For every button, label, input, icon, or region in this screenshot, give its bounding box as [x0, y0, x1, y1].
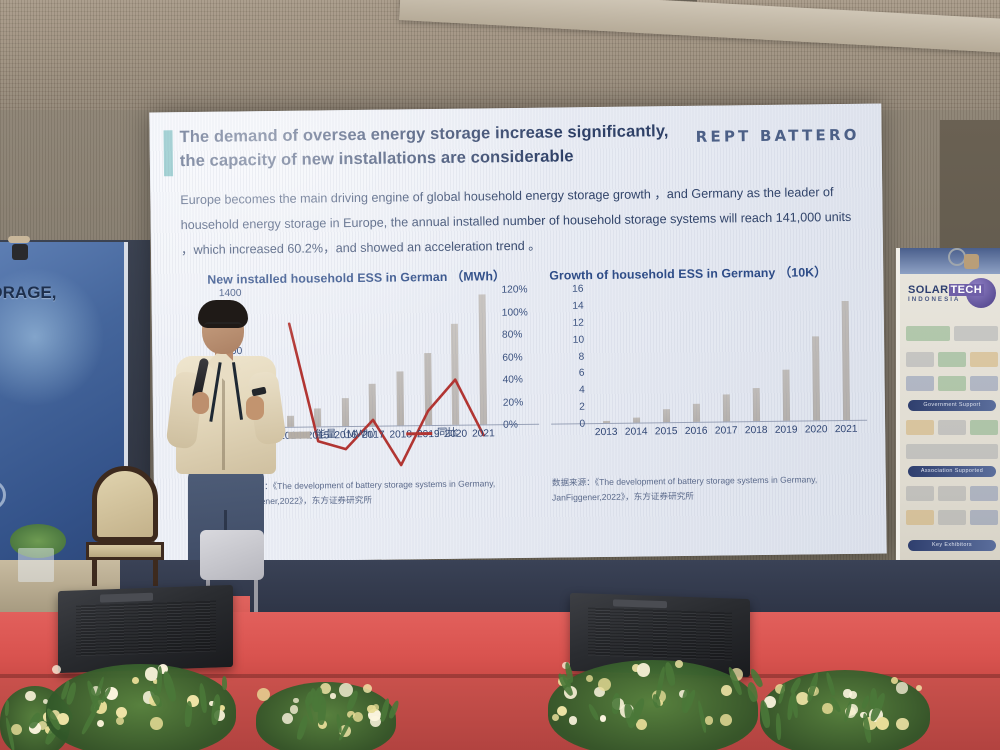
sponsor-logo — [906, 444, 998, 459]
flower-petal — [569, 716, 578, 725]
flower-leaf — [861, 695, 871, 710]
flower-petal — [116, 717, 124, 725]
spotlight-left — [8, 232, 34, 262]
y-tick-12: 12 — [550, 317, 584, 328]
flower-arrangement — [46, 664, 236, 750]
flower-leaf — [379, 698, 391, 722]
flower-petal — [675, 660, 683, 668]
chart-right-bars — [589, 286, 861, 423]
armchair-legs — [92, 560, 158, 586]
y-tick-2: 2 — [551, 402, 585, 413]
bar-2013 — [603, 421, 610, 423]
y2-tick-0%: 0% — [503, 419, 539, 430]
spotlight-arm — [8, 236, 30, 243]
bar-2019 — [782, 370, 790, 421]
speaker-handle — [100, 593, 153, 603]
flower-petal — [116, 707, 127, 718]
sponsor-logo — [906, 510, 934, 525]
sponsor-row-1 — [906, 326, 998, 341]
flower-petal — [896, 682, 907, 693]
flower-petal — [363, 684, 372, 693]
banner-section-label-2: Association Supported — [908, 466, 996, 477]
x-tick-2014: 2014 — [625, 426, 648, 437]
y-tick-1400: 1400 — [207, 288, 241, 299]
sponsor-logo — [938, 486, 966, 501]
left-banner-line-3: GY — [0, 331, 118, 357]
y2-tick-40%: 40% — [503, 374, 539, 385]
folding-chair-back — [200, 530, 264, 580]
solartech-logo: SOLARTECH INDONESIA — [908, 284, 1000, 303]
chart-right-source-note: 数据来源：《The development of battery storage… — [552, 472, 842, 505]
sponsor-logo — [938, 376, 966, 391]
solartech-brand-highlight: TECH — [949, 284, 985, 296]
flower-petal — [293, 698, 298, 703]
ceiling-panels — [0, 0, 1000, 120]
y-tick-10: 10 — [550, 334, 584, 345]
flower-petal — [822, 703, 832, 713]
sponsor-row-5 — [906, 444, 998, 459]
flower-petal — [637, 663, 651, 677]
y-tick-16: 16 — [549, 284, 583, 295]
bar-2014 — [633, 417, 640, 422]
y-tick-0: 0 — [551, 419, 585, 430]
flower-petal — [876, 717, 889, 730]
flower-petal — [843, 689, 851, 697]
flower-petal — [150, 717, 163, 730]
glasses-icon — [204, 322, 242, 331]
bar-2018 — [752, 388, 759, 421]
y2-tick-80%: 80% — [502, 329, 538, 340]
flower-petal — [557, 706, 567, 716]
sponsor-row-4 — [906, 420, 998, 435]
speaker-grille — [76, 600, 216, 656]
x-tick-2013: 2013 — [595, 427, 618, 438]
table-vase — [18, 548, 54, 582]
chart-right-plot-area: 1614121086420 — [549, 286, 867, 425]
flower-leaf — [806, 671, 820, 701]
flower-petal — [290, 705, 298, 713]
bar-2020 — [812, 337, 820, 421]
flower-petal — [52, 665, 61, 674]
banner-section-label-1: Government Support — [908, 400, 996, 411]
y-tick-8: 8 — [550, 351, 584, 362]
flower-arrangement — [760, 670, 930, 750]
solartech-brand: SOLAR — [908, 284, 949, 296]
y2-tick-60%: 60% — [502, 352, 538, 363]
sponsor-logo — [970, 376, 998, 391]
x-tick-2021: 2021 — [835, 424, 858, 435]
flower-leaf — [587, 703, 600, 721]
chart-growth-household-ess: Growth of household ESS in Germany （10K）… — [549, 262, 867, 425]
armchair-seat — [86, 542, 164, 560]
sponsor-logo — [906, 376, 934, 391]
slide-accent-bar — [163, 130, 173, 176]
bar-2017 — [722, 394, 729, 421]
bar-2016 — [692, 404, 699, 422]
ceiling-beam-light — [399, 0, 1000, 55]
flower-leaf — [184, 701, 192, 727]
sponsor-logo — [906, 326, 950, 341]
solartech-subtitle: INDONESIA — [908, 296, 1000, 303]
flower-petal — [257, 688, 271, 702]
legend-label-yoy: 同比 — [437, 427, 458, 439]
sponsor-row-6 — [906, 486, 998, 501]
armchair-back — [92, 466, 158, 542]
chart-left-title: New installed household ESS in German （M… — [207, 266, 537, 288]
sponsor-row-7 — [906, 510, 998, 525]
sponsor-logo — [906, 486, 934, 501]
x-tick-2018: 2018 — [745, 425, 768, 436]
flower-leaf — [775, 713, 781, 740]
slide-title: The demand of oversea energy storage inc… — [179, 120, 670, 174]
yoy-polyline — [289, 321, 484, 466]
flower-petal — [25, 691, 36, 702]
flower-petal — [367, 705, 376, 714]
sponsor-logo — [970, 510, 998, 525]
x-tick-2015: 2015 — [655, 426, 678, 437]
flower-arrangement — [256, 682, 396, 750]
y2-tick-100%: 100% — [502, 307, 538, 318]
flower-petal — [598, 678, 611, 691]
sponsor-logo — [906, 420, 934, 435]
legend-swatch-line-icon — [406, 432, 432, 435]
x-tick-2020: 2020 — [805, 424, 828, 435]
flower-petal — [353, 712, 364, 723]
sponsor-logo — [938, 352, 966, 367]
speaker-grille — [588, 608, 732, 661]
flower-leaf — [161, 670, 177, 702]
conference-stage-photo: The demand of oversea energy storage inc… — [0, 0, 1000, 750]
flower-petal — [330, 693, 335, 698]
sponsor-logo — [970, 486, 998, 501]
slide-title-line-2: the capacity of new installations are co… — [180, 144, 670, 174]
sponsor-logo — [970, 420, 998, 435]
sponsor-logo — [938, 510, 966, 525]
chart-right-title: Growth of household ESS in Germany （10K） — [549, 262, 865, 284]
solartech-wordmark: SOLARTECH — [908, 284, 1000, 296]
legend-label-energy: 能量（MWh） — [315, 428, 382, 441]
flower-petal — [11, 724, 22, 735]
legend-item-energy: 能量（MWh） — [288, 426, 382, 442]
presenter-right-hand — [246, 396, 264, 420]
y-tick-14: 14 — [550, 301, 584, 312]
sponsor-logo — [938, 420, 966, 435]
flower-petal — [132, 677, 139, 684]
flower-petal — [586, 675, 593, 682]
y2-tick-120%: 120% — [501, 284, 537, 295]
flower-petal — [282, 713, 293, 724]
y-tick-4: 4 — [551, 385, 585, 396]
spotlight-right — [948, 246, 982, 272]
bar-2015 — [662, 409, 669, 422]
left-banner-text: STORAGE, E, GY — [0, 280, 118, 357]
sponsor-row-3 — [906, 376, 998, 391]
flower-leaf — [296, 715, 309, 741]
spotlight-head — [12, 244, 28, 260]
stage-monitor-left — [58, 585, 233, 673]
slide-body-text: Europe becomes the main driving engine o… — [180, 180, 853, 264]
flower-petal — [720, 714, 732, 726]
presenter-left-hand — [192, 392, 209, 414]
sponsor-row-2 — [906, 352, 998, 367]
x-tick-2017: 2017 — [715, 425, 738, 436]
sponsor-logo — [906, 352, 934, 367]
flower-petal — [97, 720, 104, 727]
chart-right-x-axis-ticks: 201320142015201620172018201920202021 — [591, 421, 861, 438]
y-tick-6: 6 — [550, 368, 584, 379]
flower-leaf — [198, 683, 207, 713]
banner-section-label-3: Key Exhibitors — [908, 540, 996, 551]
flower-petal — [600, 715, 607, 722]
x-tick-2019: 2019 — [775, 425, 798, 436]
left-banner-line-1: STORAGE, — [0, 280, 118, 306]
spotlight-head — [964, 254, 979, 269]
left-banner-line-2: E, — [0, 306, 118, 332]
sponsor-logo — [970, 352, 998, 367]
flower-petal — [721, 685, 732, 696]
armchair — [86, 466, 164, 586]
flower-petal — [896, 718, 909, 731]
flower-arrangement — [548, 660, 758, 750]
rept-battero-logo: REPT BATTERO — [696, 126, 860, 146]
flower-petal — [916, 685, 922, 691]
flower-leaf — [824, 671, 835, 695]
source-right-line-2: JanFiggener,2022》，东方证券研究所 — [552, 487, 842, 505]
sponsor-logo — [954, 326, 998, 341]
flower-petal — [705, 716, 713, 724]
legend-item-yoy: 同比 — [406, 425, 458, 441]
flower-petal — [552, 714, 559, 721]
flower-leaf — [5, 700, 10, 717]
speaker-handle — [613, 599, 667, 609]
y2-tick-20%: 20% — [503, 397, 539, 408]
flower-petal — [891, 677, 898, 684]
banner-circle-icon — [0, 480, 6, 510]
bar-2021 — [841, 301, 849, 420]
x-tick-2016: 2016 — [685, 426, 708, 437]
